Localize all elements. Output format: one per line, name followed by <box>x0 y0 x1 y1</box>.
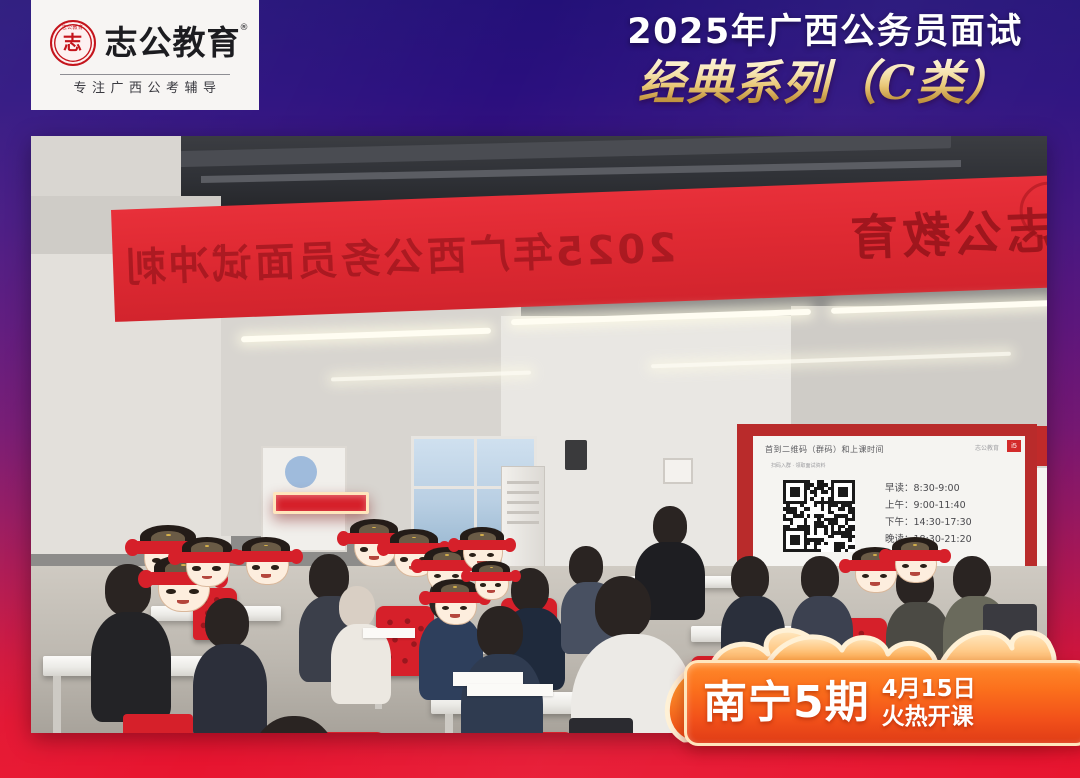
poster-banner <box>273 492 369 514</box>
screen-title: 首到二维码（群码）和上课时间 <box>765 444 884 455</box>
seal-character: 志 <box>52 22 94 64</box>
wall-clock-icon <box>663 458 693 484</box>
desk-leg <box>53 676 61 733</box>
schedule-row: 上午：9:00-11:40 <box>885 497 972 514</box>
red-bag <box>123 714 193 733</box>
banner-brand-text: 志公教育 <box>845 191 1047 269</box>
schedule-row: 下午：14:30-17:30 <box>885 514 972 531</box>
brand-logo-plate: 志公教育 志 志公教育 ® 专注广西公考辅导 <box>31 0 259 110</box>
screen-brand-name: 志公教育 <box>975 443 999 452</box>
logo-row: 志公教育 志 志公教育 ® <box>50 20 241 66</box>
screen-subtitle: 扫码入群 · 领取面试资料 <box>771 462 825 469</box>
headline-block: 2025年广西公务员面试 经典系列（C类） <box>610 12 1040 113</box>
speaker-icon <box>565 440 587 470</box>
headline-secondary: 经典系列（C类） <box>610 56 1040 112</box>
cartoon-face-sticker <box>471 560 511 600</box>
cartoon-face-sticker <box>891 536 939 584</box>
headline-primary: 2025年广西公务员面试 <box>610 12 1040 53</box>
seal-icon: 志公教育 志 <box>50 20 96 66</box>
desk-leg <box>445 714 453 733</box>
paper-stack <box>467 684 553 696</box>
schedule-time: 8:30-9:00 <box>914 483 960 494</box>
course-start-badge[interactable]: 南宁5期 4月15日 火热开课 <box>650 620 1070 770</box>
schedule-time: 9:00-11:40 <box>914 500 966 511</box>
banner-secondary-text: 2025年广西公务员面试冲刺 <box>122 215 677 293</box>
cartoon-face-sticker <box>181 536 233 588</box>
backpack <box>569 718 633 733</box>
schedule-label: 下午： <box>885 517 914 528</box>
badge-pill[interactable]: 南宁5期 4月15日 火热开课 <box>684 660 1080 746</box>
badge-date: 4月15日 <box>882 677 976 701</box>
badge-side-block: 4月15日 火热开课 <box>882 677 976 728</box>
brand-tagline: 专注广西公考辅导 <box>68 82 221 95</box>
schedule-label: 早读： <box>885 483 914 494</box>
cartoon-face-sticker <box>241 536 291 586</box>
poster-graphic <box>285 456 317 488</box>
schedule-label: 上午： <box>885 500 914 511</box>
registered-mark-icon: ® <box>240 24 250 33</box>
screen-brand-badge: i5 <box>1007 440 1021 452</box>
paper-stack <box>363 628 415 638</box>
schedule-time: 14:30-17:30 <box>914 517 972 528</box>
logo-divider <box>60 74 230 75</box>
badge-main-label: 南宁5期 <box>703 681 870 725</box>
badge-subtitle: 火热开课 <box>882 705 976 729</box>
brand-name-text: 志公教育 <box>105 23 241 62</box>
schedule-row: 早读：8:30-9:00 <box>885 480 972 497</box>
brand-name: 志公教育 ® <box>105 26 241 59</box>
qr-code-icon <box>783 480 855 552</box>
promotional-poster: 志公教育 志 志公教育 ® 专注广西公考辅导 2025年广西公务员面试 经典系列… <box>0 0 1080 778</box>
